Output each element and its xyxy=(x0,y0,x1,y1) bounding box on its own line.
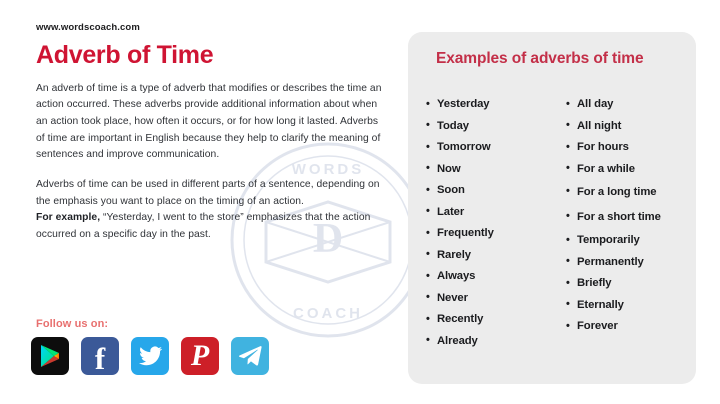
examples-column-left: YesterdayTodayTomorrowNowSoonLaterFreque… xyxy=(426,98,566,356)
list-item: Later xyxy=(426,206,566,218)
list-item: Already xyxy=(426,335,566,347)
list-item: Soon xyxy=(426,184,566,196)
examples-card-title: Examples of adverbs of time xyxy=(436,49,676,68)
list-item: Frequently xyxy=(426,227,566,239)
google-play-icon[interactable] xyxy=(31,337,69,375)
list-item: Always xyxy=(426,270,566,282)
list-item: For a while xyxy=(566,163,688,175)
pinterest-icon[interactable]: P xyxy=(181,337,219,375)
list-item: All day xyxy=(566,98,688,110)
telegram-plane-glyph xyxy=(239,346,262,366)
description-paragraph-1: An adverb of time is a type of adverb th… xyxy=(36,81,388,164)
google-play-glyph xyxy=(39,344,61,368)
list-item: All night xyxy=(566,120,688,132)
list-item: Temporarily xyxy=(566,234,688,246)
paragraph-2-intro: Adverbs of time can be used in different… xyxy=(36,179,380,207)
list-item: Tomorrow xyxy=(426,141,566,153)
list-item: Yesterday xyxy=(426,98,566,110)
pinterest-glyph: P xyxy=(191,341,209,371)
facebook-glyph: f xyxy=(95,343,105,374)
for-example-label: For example, xyxy=(36,212,100,223)
list-item: Eternally xyxy=(566,299,688,311)
left-content-column: www.wordscoach.com Adverb of Time An adv… xyxy=(36,22,388,244)
examples-card: Examples of adverbs of time YesterdayTod… xyxy=(408,32,696,384)
list-item: Now xyxy=(426,163,566,175)
twitter-icon[interactable] xyxy=(131,337,169,375)
poster-canvas: D WORDS COACH www.wordscoach.com Adverb … xyxy=(0,0,720,404)
list-item: For hours xyxy=(566,141,688,153)
telegram-icon[interactable] xyxy=(231,337,269,375)
examples-lists: YesterdayTodayTomorrowNowSoonLaterFreque… xyxy=(426,98,688,356)
site-url: www.wordscoach.com xyxy=(36,22,388,33)
list-item: For a short time xyxy=(566,209,688,225)
description-paragraph-2: Adverbs of time can be used in different… xyxy=(36,177,388,244)
list-item: Never xyxy=(426,292,566,304)
facebook-icon[interactable]: f xyxy=(81,337,119,375)
list-item: Rarely xyxy=(426,249,566,261)
list-item: Briefly xyxy=(566,277,688,289)
svg-text:COACH: COACH xyxy=(293,305,363,322)
examples-column-right: All dayAll nightFor hoursFor a whileFor … xyxy=(566,98,688,356)
social-links-row: f P xyxy=(31,337,269,375)
list-item: Permanently xyxy=(566,256,688,268)
list-item: Recently xyxy=(426,313,566,325)
list-item: Today xyxy=(426,120,566,132)
page-title: Adverb of Time xyxy=(36,42,388,70)
list-item: For a long time xyxy=(566,184,688,200)
follow-us-label: Follow us on: xyxy=(36,318,108,330)
list-item: Forever xyxy=(566,320,688,332)
twitter-bird-glyph xyxy=(139,346,162,366)
